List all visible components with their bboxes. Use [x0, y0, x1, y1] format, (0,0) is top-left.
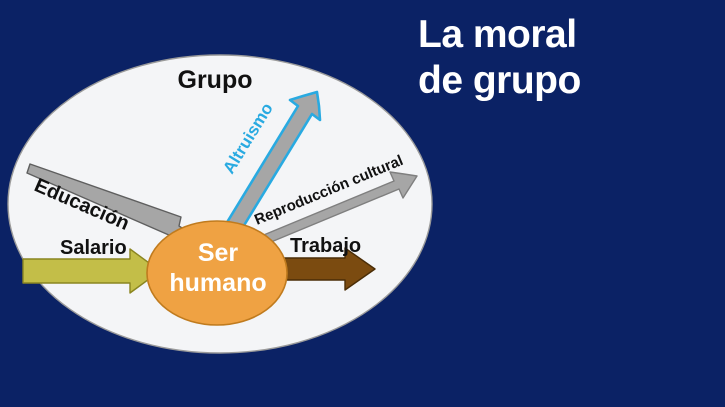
trabajo-label: Trabajo	[290, 235, 361, 257]
ser-humano-line2: humano	[169, 269, 266, 297]
slide-title: La moral de grupo	[418, 12, 708, 104]
group-label: Grupo	[178, 66, 253, 94]
slide-canvas: Grupo Ser humano Educación Salario Altru…	[0, 0, 725, 407]
salario-label: Salario	[60, 237, 127, 259]
ser-humano-line1: Ser	[198, 239, 239, 267]
